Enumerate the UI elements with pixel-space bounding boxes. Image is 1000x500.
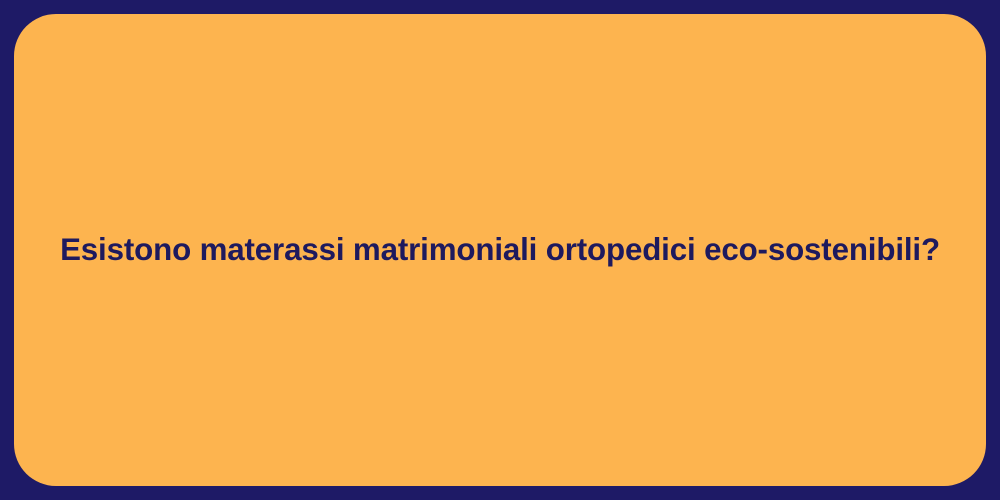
page-canvas: Esistono materassi matrimoniali ortopedi… bbox=[0, 0, 1000, 500]
question-card: Esistono materassi matrimoniali ortopedi… bbox=[14, 14, 986, 486]
page-title: Esistono materassi matrimoniali ortopedi… bbox=[14, 232, 986, 269]
